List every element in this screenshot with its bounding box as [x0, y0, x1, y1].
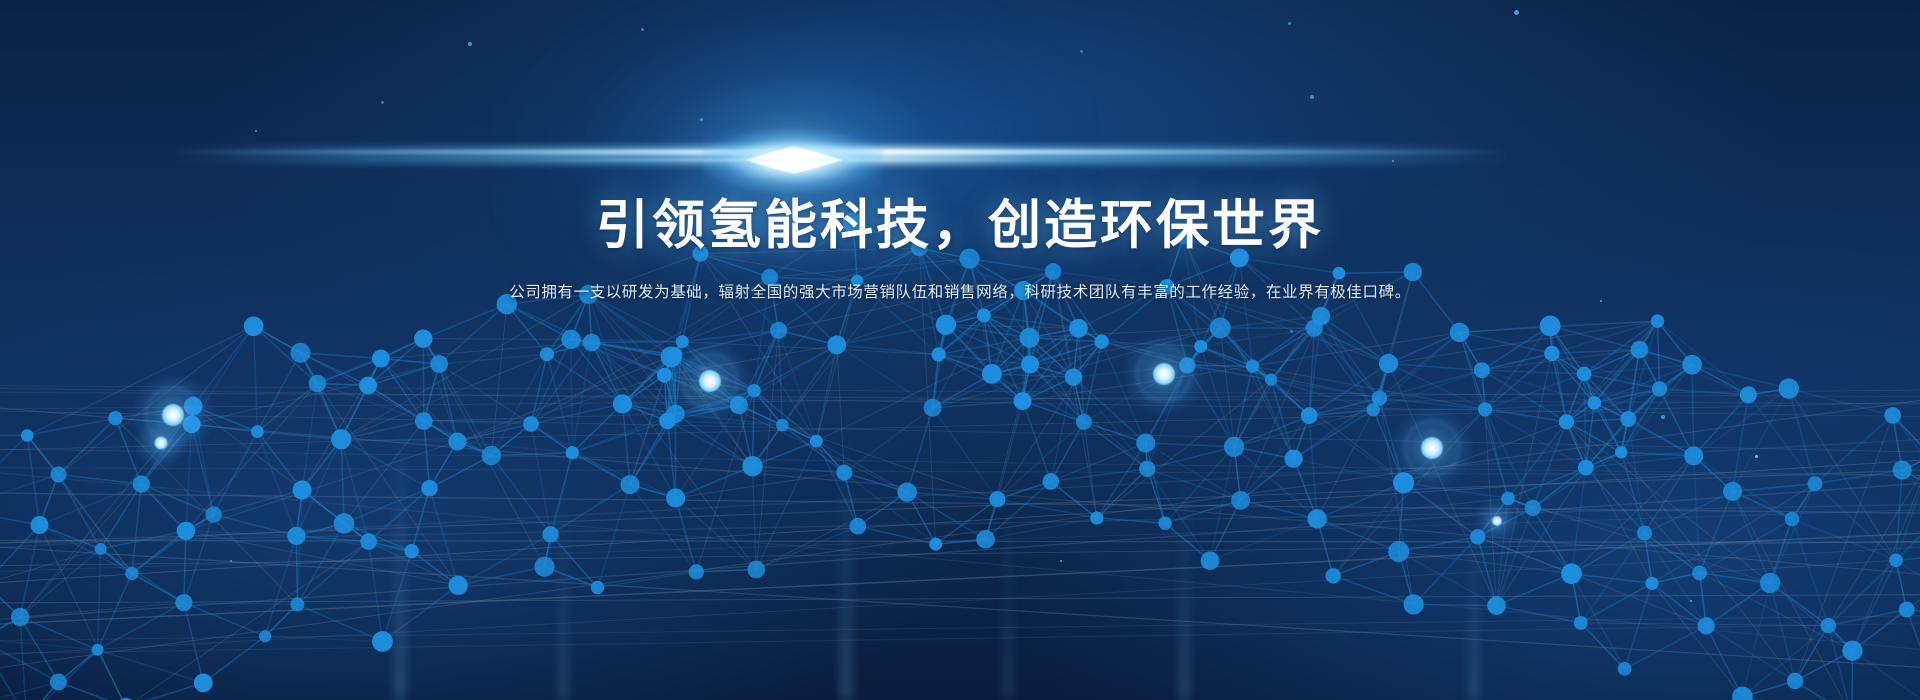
hero-text-block: 引领氢能科技，创造环保世界 公司拥有一支以研发为基础，辐射全国的强大市场营销队伍… [0, 196, 1920, 306]
network-mesh-graphic [0, 0, 1920, 700]
page-title: 引领氢能科技，创造环保世界 [0, 196, 1920, 257]
page-subtitle: 公司拥有一支以研发为基础，辐射全国的强大市场营销队伍和销售网络，科研技术团队有丰… [0, 281, 1920, 306]
hero-banner: 引领氢能科技，创造环保世界 公司拥有一支以研发为基础，辐射全国的强大市场营销队伍… [0, 0, 1920, 700]
